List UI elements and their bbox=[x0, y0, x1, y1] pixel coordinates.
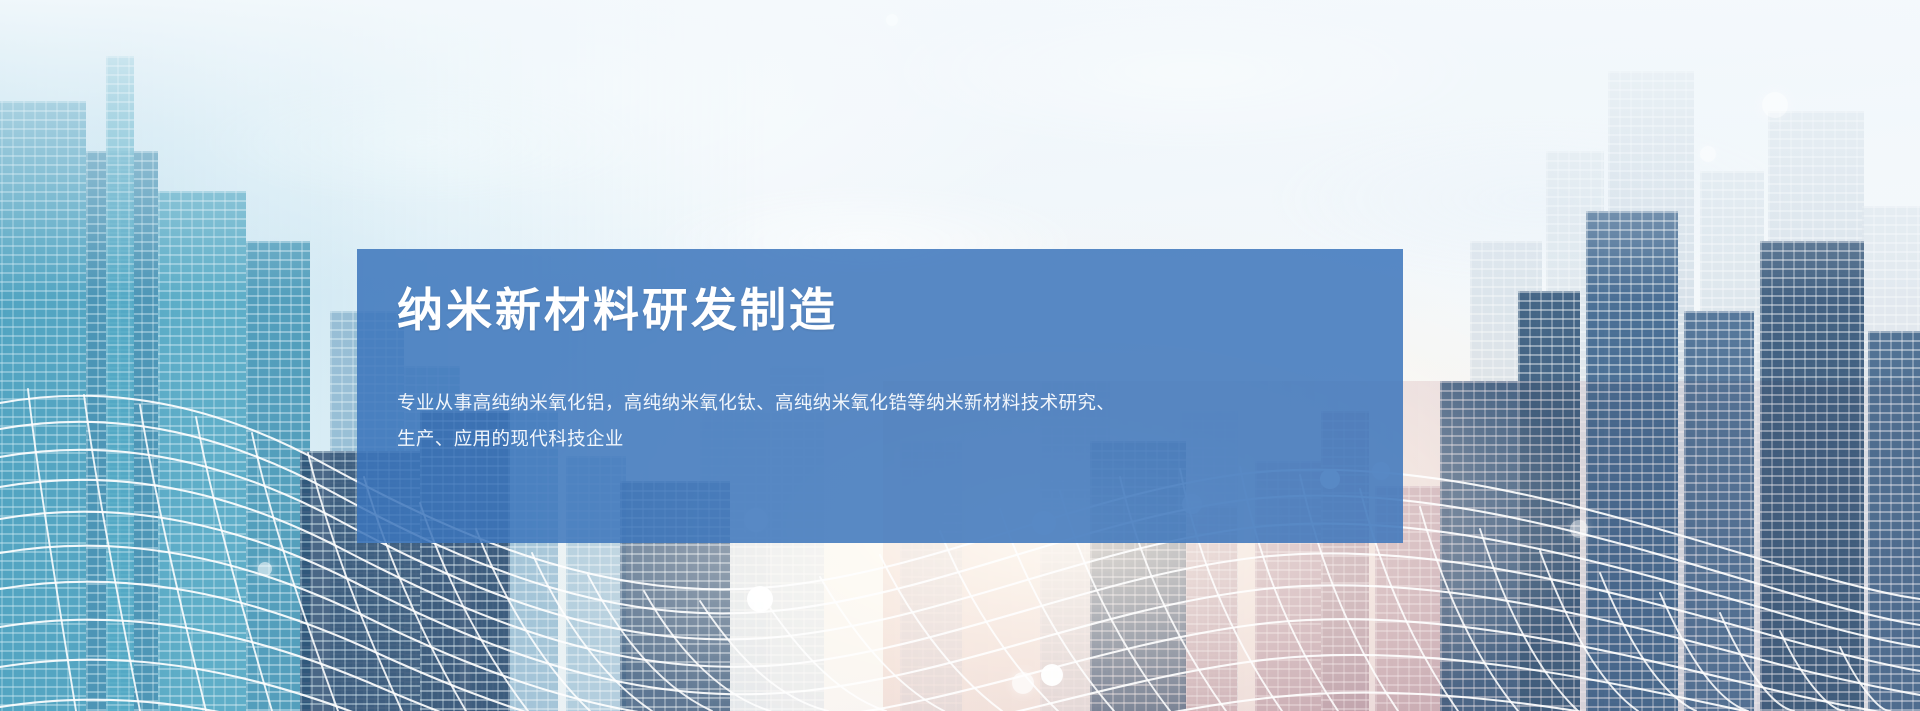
hero-banner: 纳米新材料研发制造 专业从事高纯纳米氧化铝，高纯纳米氧化钛、高纯纳米氧化锆等纳米… bbox=[0, 0, 1920, 711]
bokeh-dot bbox=[886, 14, 898, 26]
hero-subtitle: 专业从事高纯纳米氧化铝，高纯纳米氧化钛、高纯纳米氧化锆等纳米新材料技术研究、 生… bbox=[397, 385, 1357, 457]
hero-subtitle-line-2: 生产、应用的现代科技企业 bbox=[397, 421, 1357, 457]
hero-text-panel: 纳米新材料研发制造 专业从事高纯纳米氧化铝，高纯纳米氧化钛、高纯纳米氧化锆等纳米… bbox=[357, 249, 1403, 543]
hero-subtitle-line-1: 专业从事高纯纳米氧化铝，高纯纳米氧化钛、高纯纳米氧化锆等纳米新材料技术研究、 bbox=[397, 385, 1357, 421]
bokeh-dot bbox=[258, 562, 272, 576]
bokeh-dot bbox=[1700, 146, 1716, 162]
bokeh-dot bbox=[1012, 672, 1034, 694]
bokeh-dot bbox=[1762, 92, 1788, 118]
page-title: 纳米新材料研发制造 bbox=[397, 284, 838, 337]
bokeh-dot bbox=[1570, 520, 1588, 538]
